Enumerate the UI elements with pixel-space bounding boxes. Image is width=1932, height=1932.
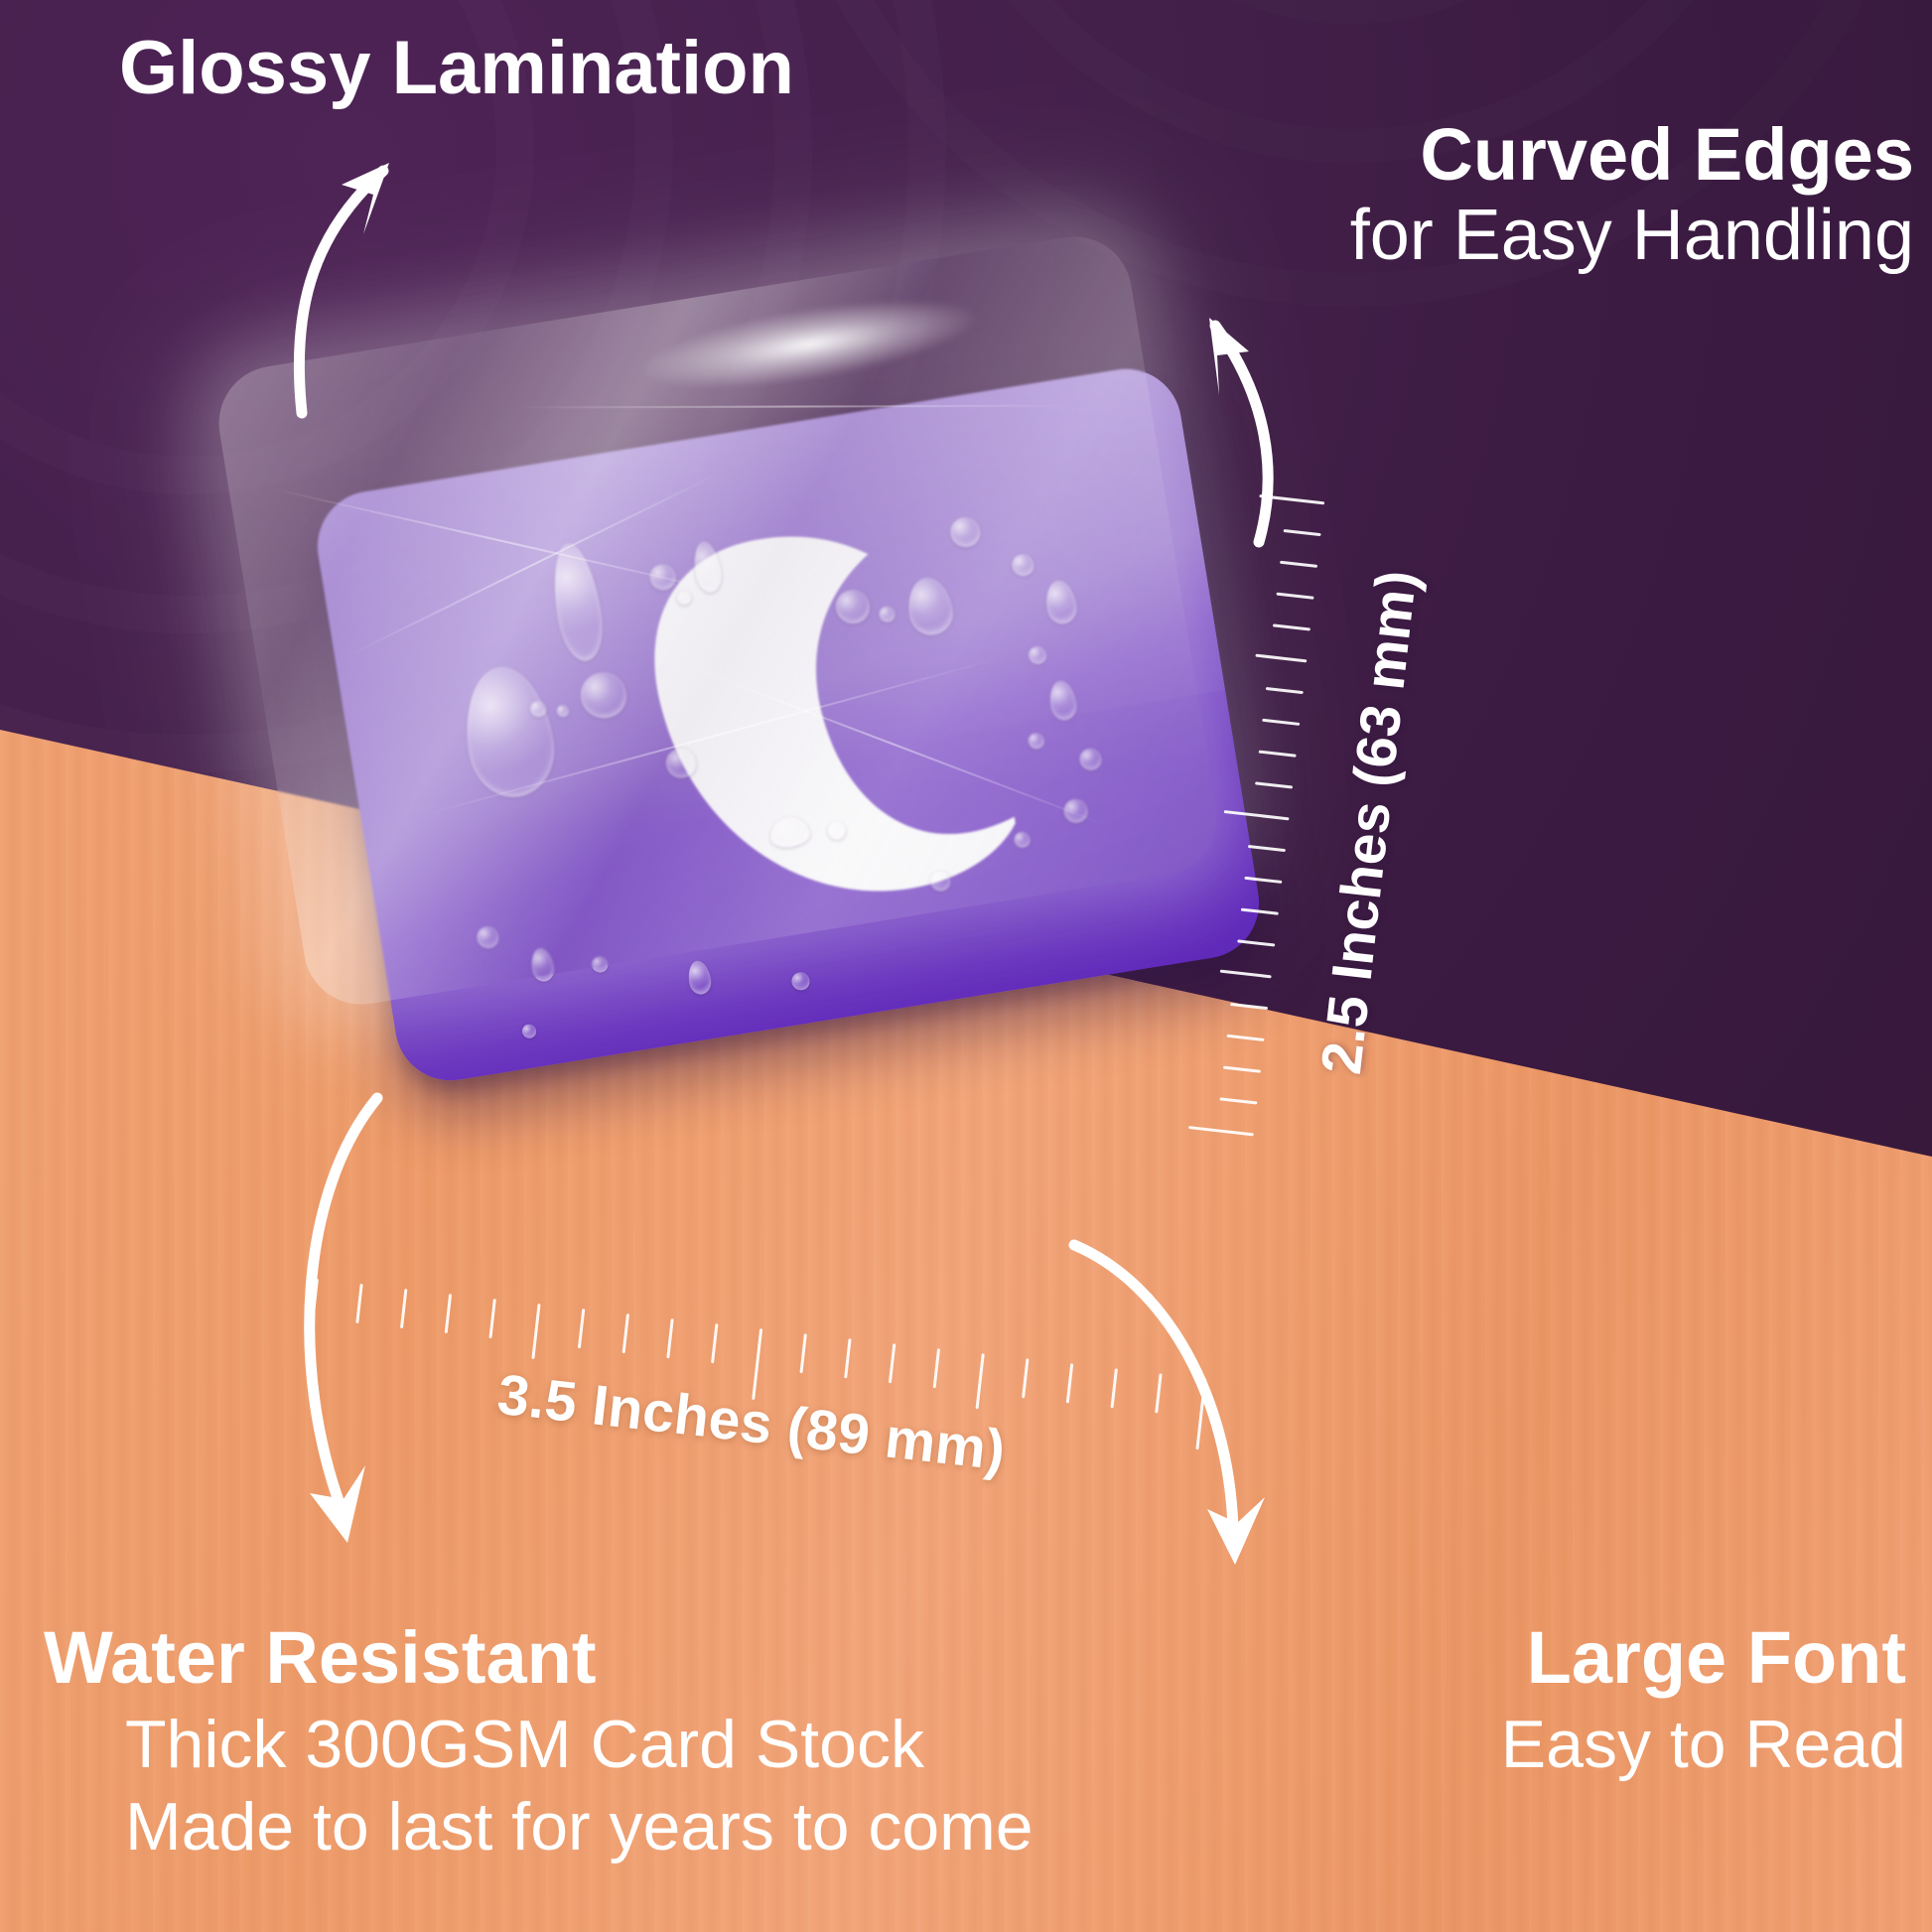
callout-subline: for Easy Handling (872, 196, 1914, 276)
callout-heading: Glossy Lamination (119, 30, 794, 107)
callout-curved-edges: Curved Edges for Easy Handling (872, 117, 1914, 277)
callout-subline: Easy to Read (1033, 1707, 1906, 1783)
callout-heading: Large Font (1033, 1620, 1906, 1695)
product-infographic: 3.5 Inches (89 mm) 2.5 Inches (63 mm) Gl… (0, 0, 1932, 1932)
callout-glossy-lamination: Glossy Lamination (119, 30, 794, 107)
callout-heading: Curved Edges (872, 117, 1914, 192)
arrow-water-resistant (248, 1082, 467, 1549)
callout-heading: Water Resistant (44, 1620, 1034, 1695)
arrow-large-font (1052, 1231, 1281, 1569)
arrow-glossy-lamination (278, 119, 496, 417)
callout-water-resistant: Water Resistant Thick 300GSM Card Stock … (44, 1620, 1034, 1865)
callout-large-font: Large Font Easy to Read (1033, 1620, 1906, 1783)
arrow-curved-edges (1172, 278, 1370, 546)
callout-subline: Made to last for years to come (44, 1789, 1034, 1865)
callout-subline: Thick 300GSM Card Stock (44, 1707, 1034, 1783)
